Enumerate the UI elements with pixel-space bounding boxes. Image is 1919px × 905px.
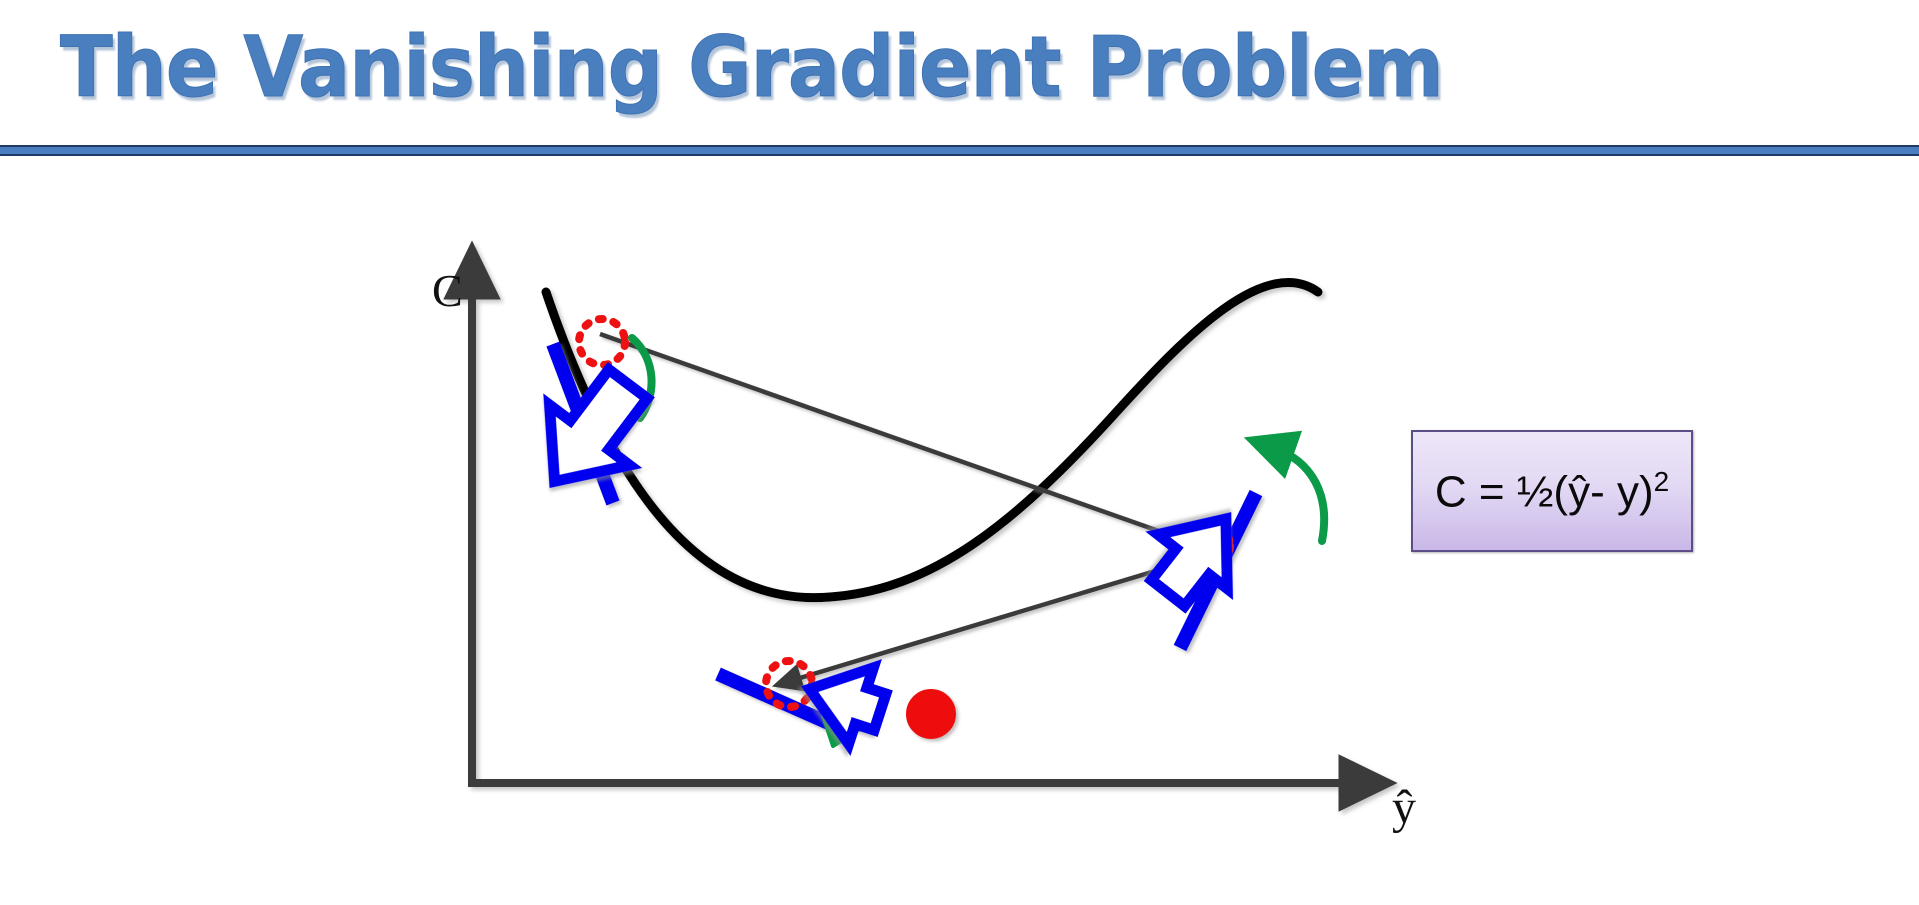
formula-body: C = ½(ŷ- y) bbox=[1435, 467, 1654, 516]
slide-header: The Vanishing Gradient Problem bbox=[0, 0, 1919, 148]
divider-band bbox=[0, 147, 1919, 154]
y-axis-label: C bbox=[432, 268, 463, 314]
formula-exponent: 2 bbox=[1654, 466, 1670, 497]
current-ball-step-3 bbox=[907, 690, 955, 738]
x-axis-label: ŷ bbox=[1392, 784, 1416, 832]
gradient-arrow-step-1 bbox=[515, 354, 668, 512]
descent-arrow-step2-to-step3 bbox=[790, 556, 1205, 681]
cost-function-callout: C = ½(ŷ- y)2 bbox=[1411, 430, 1693, 552]
page-title: The Vanishing Gradient Problem bbox=[60, 12, 1624, 122]
cost-function-formula-text: C = ½(ŷ- y)2 bbox=[1435, 468, 1669, 515]
title-divider bbox=[0, 145, 1919, 156]
step-1-steep-slope bbox=[515, 319, 668, 512]
gradient-descent-diagram: C ŷ C = ½(ŷ- y)2 bbox=[0, 156, 1919, 905]
descent-path-arrows bbox=[600, 334, 1205, 681]
angle-marker-step-2 bbox=[1274, 448, 1324, 541]
